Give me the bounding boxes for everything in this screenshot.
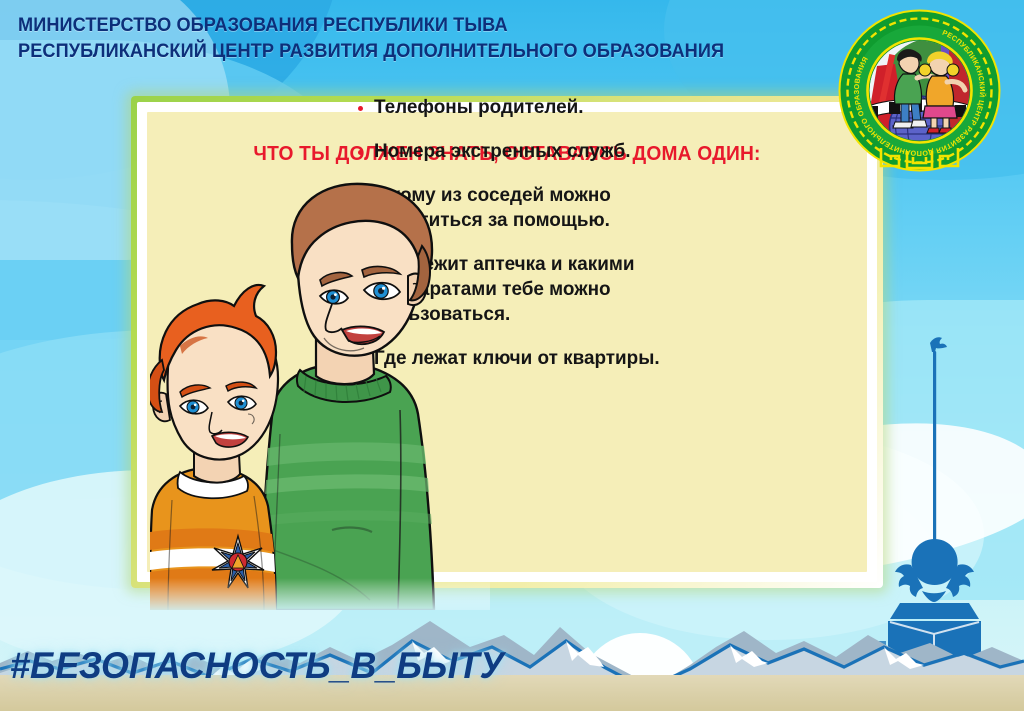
child-figure	[150, 285, 278, 610]
bullet-dot-icon	[358, 106, 363, 111]
poster-stage: ЧТО ТЫ ДОЛЖЕН ЗНАТЬ, ОСТАВАЯСЬ ДОМА ОДИН…	[0, 0, 1024, 711]
ministry-title: МИНИСТЕРСТВО ОБРАЗОВАНИЯ РЕСПУБЛИКИ ТЫВА	[18, 12, 762, 38]
hashtag-label: #БЕЗОПАСНОСТЬ_В_БЫТУ	[10, 645, 504, 687]
list-item-label: Телефоны родителей.	[374, 95, 584, 120]
adult-figure	[260, 184, 434, 610]
list-item: Телефоны родителей.	[358, 95, 708, 120]
list-item-label: Номера экстренных служб.	[374, 139, 630, 164]
bullet-dot-icon	[358, 150, 363, 155]
rcrdo-emblem: РЕСПУБЛИКАНСКИЙ ЦЕНТР РАЗВИТИЯ ДОПОЛНИТЕ…	[837, 8, 1002, 173]
center-title: РЕСПУБЛИКАНСКИЙ ЦЕНТР РАЗВИТИЯ ДОПОЛНИТЕ…	[18, 38, 762, 64]
header: МИНИСТЕРСТВО ОБРАЗОВАНИЯ РЕСПУБЛИКИ ТЫВА…	[18, 12, 818, 64]
father-and-son-illustration	[150, 180, 490, 610]
list-item: Номера экстренных служб.	[358, 139, 708, 164]
